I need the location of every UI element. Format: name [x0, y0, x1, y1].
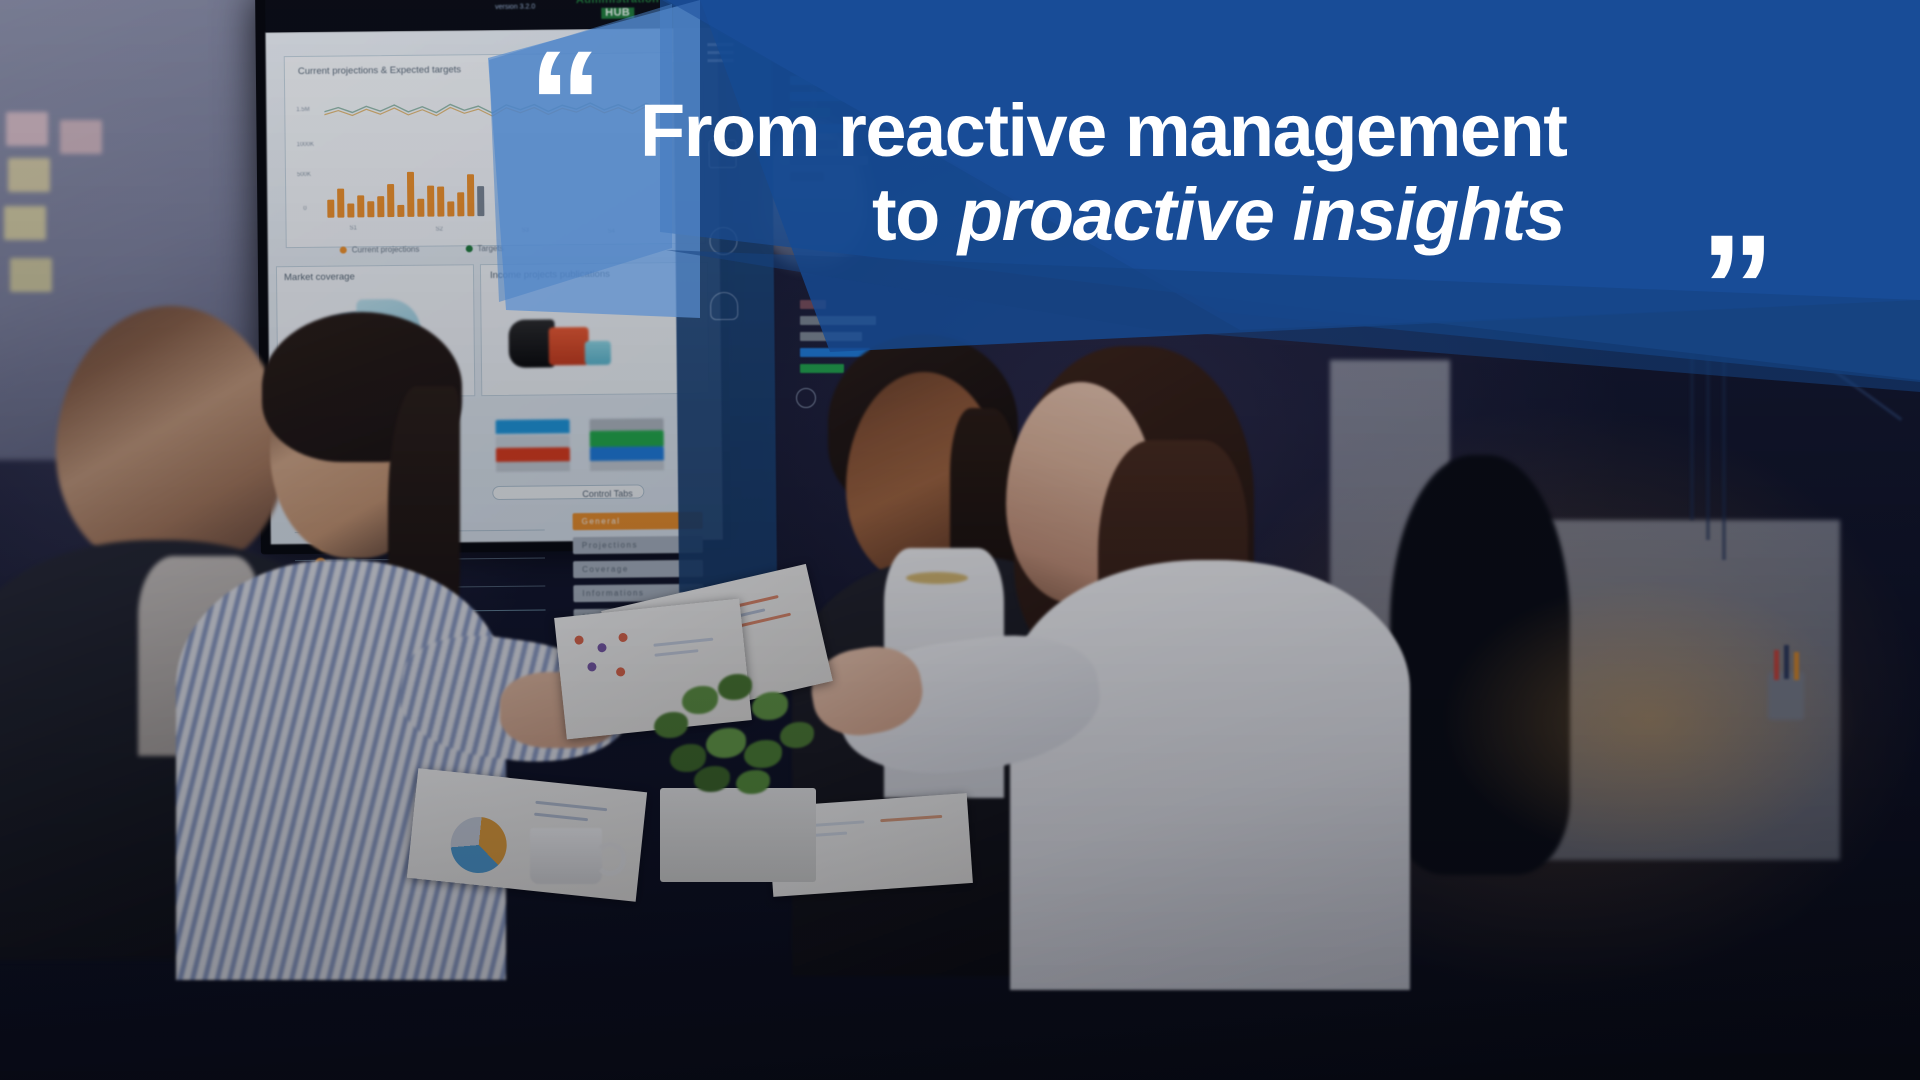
quote-line-2-emphasis: proactive insights: [958, 173, 1564, 256]
quote-close-icon: ”: [1700, 212, 1771, 362]
quote-open-icon: “: [528, 28, 599, 178]
quote-line-1: From reactive management: [640, 88, 1566, 173]
banner-stage: Administration HUB version 3.2.0 Current…: [0, 0, 1920, 1080]
quote-line-2-plain: to: [872, 173, 958, 256]
quote-block: “ From reactive management to proactive …: [0, 0, 1920, 400]
quote-line-2: to proactive insights: [872, 172, 1564, 257]
